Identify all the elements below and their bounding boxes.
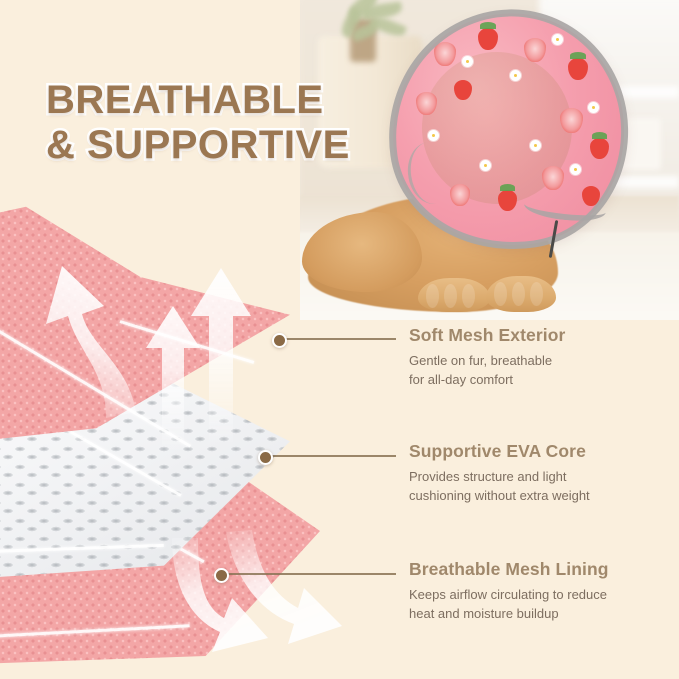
airflow-arrow-up xyxy=(185,264,265,444)
callout-dot-3 xyxy=(214,568,229,583)
callout-title: Supportive EVA Core xyxy=(409,441,675,462)
callout-leader-1 xyxy=(283,338,396,340)
callout-description: Keeps airflow circulating to reduce heat… xyxy=(409,586,677,624)
callout-soft-mesh-exterior: Soft Mesh Exterior Gentle on fur, breath… xyxy=(409,325,671,390)
callout-breathable-mesh-lining: Breathable Mesh Lining Keeps airflow cir… xyxy=(409,559,677,624)
paw-toe xyxy=(462,284,475,308)
headline: BREATHABLE & SUPPORTIVE xyxy=(46,78,466,168)
paw-toe xyxy=(494,282,507,306)
airflow-arrow-down xyxy=(216,528,346,658)
headline-line-2: & SUPPORTIVE xyxy=(46,123,466,168)
callout-leader-3 xyxy=(225,573,396,575)
callout-description: Gentle on fur, breathable for all-day co… xyxy=(409,352,671,390)
callout-title: Breathable Mesh Lining xyxy=(409,559,677,580)
paw-toe xyxy=(530,282,543,306)
callout-dot-2 xyxy=(258,450,273,465)
callout-dot-1 xyxy=(272,333,287,348)
paw-toe xyxy=(444,284,457,308)
callout-title: Soft Mesh Exterior xyxy=(409,325,671,346)
paw-toe xyxy=(426,284,439,308)
callout-supportive-eva-core: Supportive EVA Core Provides structure a… xyxy=(409,441,675,506)
callout-leader-2 xyxy=(269,455,396,457)
headline-line-1: BREATHABLE xyxy=(46,78,466,123)
material-layers-illustration xyxy=(0,206,340,679)
paw-toe xyxy=(512,282,525,306)
callout-description: Provides structure and light cushioning … xyxy=(409,468,675,506)
cat-front-paw-right xyxy=(486,276,556,312)
cat-front-paw-left xyxy=(418,278,490,312)
product-infographic: BREATHABLE & SUPPORTIVE Soft Mesh Exteri… xyxy=(0,0,679,679)
airflow-arrow-up xyxy=(28,260,148,420)
